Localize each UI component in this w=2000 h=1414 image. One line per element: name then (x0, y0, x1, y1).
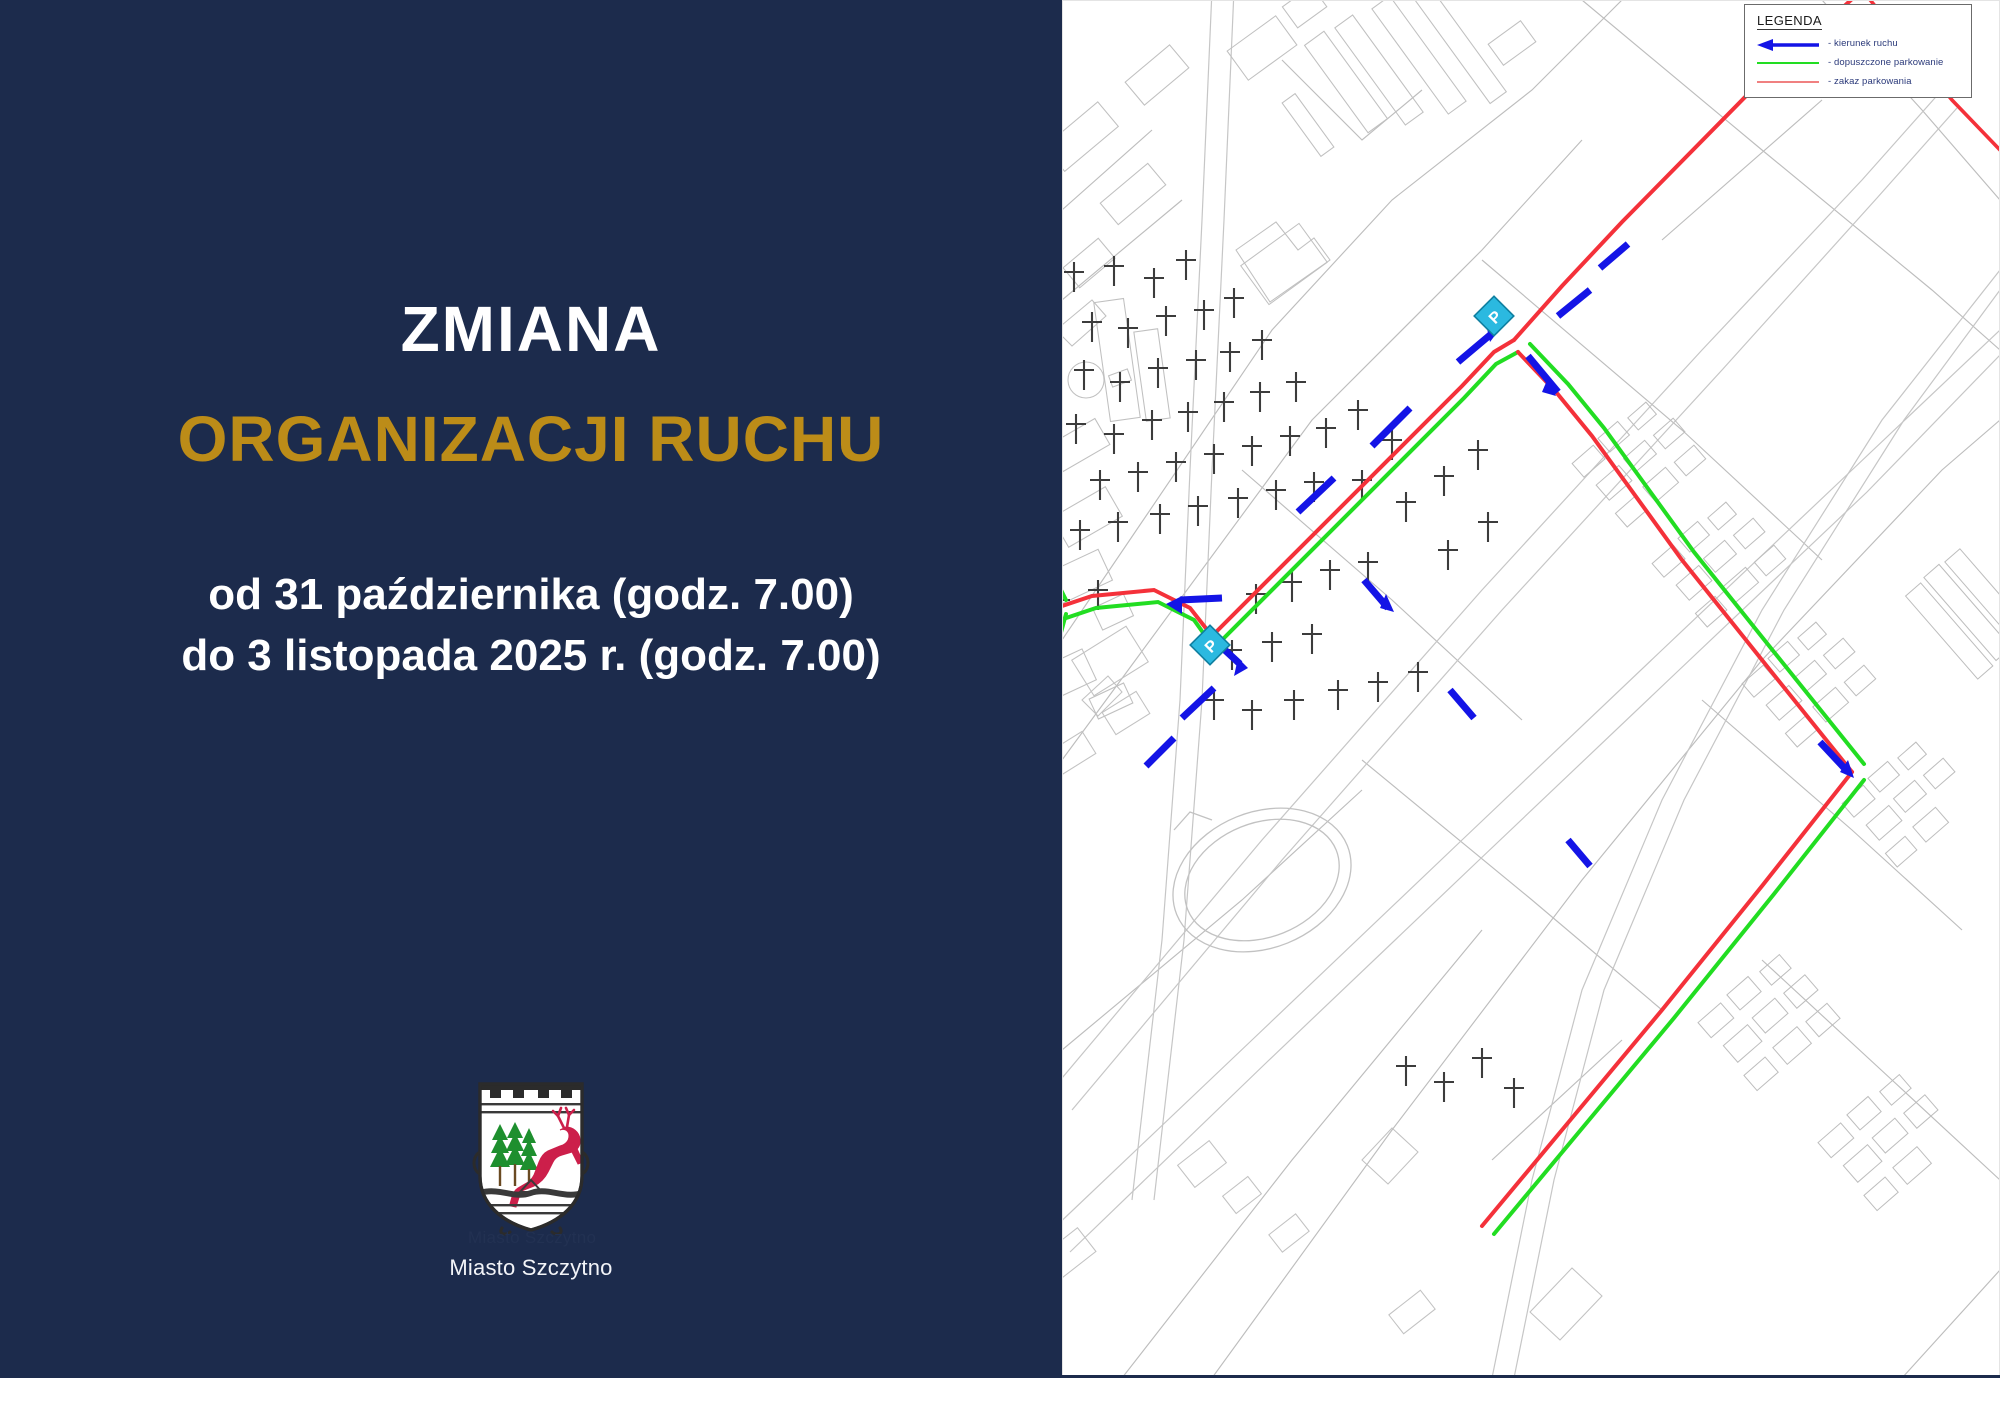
legend-item-parking-forbidden: - zakaz parkowania (1757, 75, 1961, 88)
date-line-end: do 3 listopada 2025 r. (godz. 7.00) (0, 626, 1062, 687)
map-legend: LEGENDA - kierunek ruchu - dopuszczone p… (1744, 4, 1972, 98)
legend-title: LEGENDA (1757, 13, 1822, 30)
date-range-block: od 31 października (godz. 7.00) do 3 lis… (0, 565, 1062, 686)
legend-label-parking-allowed: - dopuszczone parkowanie (1828, 57, 1943, 68)
date-line-start: od 31 października (godz. 7.00) (0, 565, 1062, 626)
legend-item-parking-allowed: - dopuszczone parkowanie (1757, 56, 1961, 69)
arrow-left-blue-icon (1757, 38, 1819, 50)
info-panel: ZMIANA ORGANIZACJI RUCHU od 31 październ… (0, 0, 1062, 1378)
line-red-icon (1757, 76, 1819, 88)
crest-ghost-caption: Miasto Szczytno (468, 1228, 594, 1248)
map-panel[interactable]: P P LEGENDA - kierunek ruc (1062, 0, 2000, 1378)
legend-label-parking-forbidden: - zakaz parkowania (1828, 76, 1912, 87)
logo-caption: Miasto Szczytno (0, 1255, 1062, 1281)
poster-root: ZMIANA ORGANIZACJI RUCHU od 31 październ… (0, 0, 2000, 1414)
coat-of-arms-icon: Miasto Szczytno (468, 1078, 594, 1238)
legend-label-direction: - kierunek ruchu (1828, 38, 1898, 49)
headline-block: ZMIANA ORGANIZACJI RUCHU (0, 296, 1062, 474)
situation-map: P P (1062, 0, 2000, 1378)
logo-block: Miasto Szczytno Miasto Szczytno (0, 1078, 1062, 1281)
legend-item-direction: - kierunek ruchu (1757, 37, 1961, 50)
line-green-icon (1757, 57, 1819, 69)
headline-line-2: ORGANIZACJI RUCHU (0, 406, 1062, 474)
headline-line-1: ZMIANA (0, 296, 1062, 364)
